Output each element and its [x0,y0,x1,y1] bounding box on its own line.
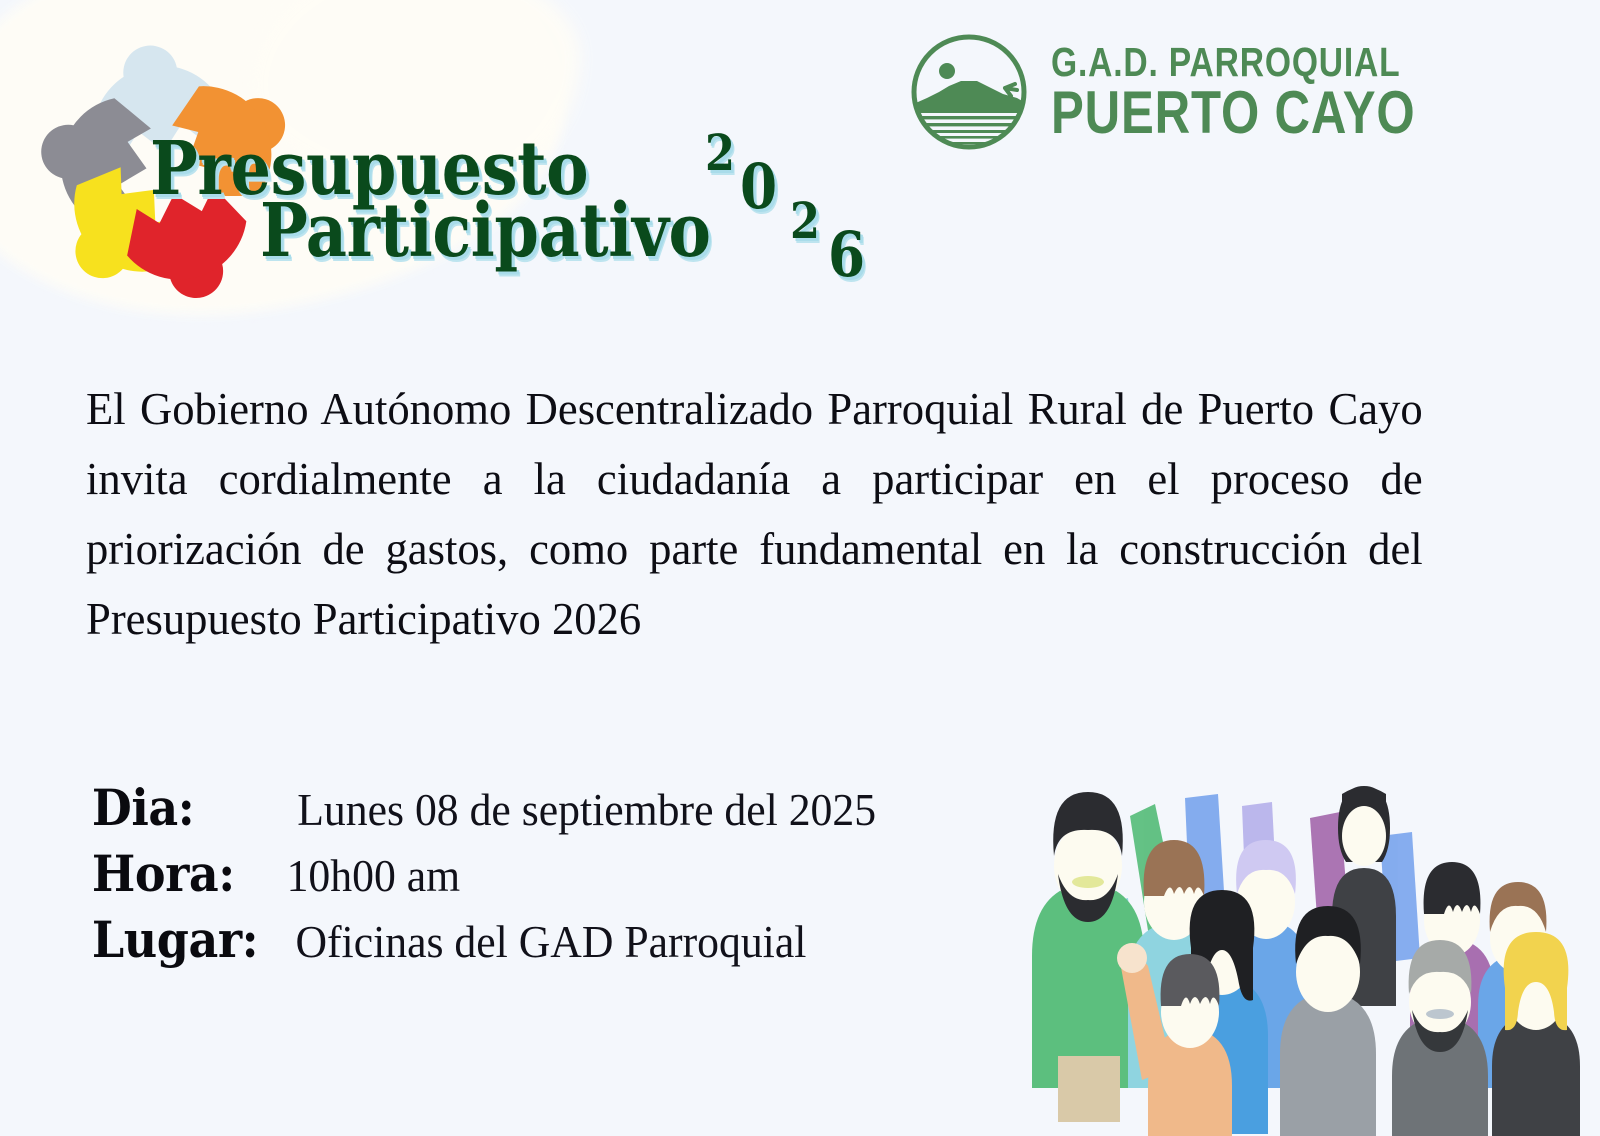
detail-value-hora: 10h00 am [287,849,461,902]
detail-value-dia: Lunes 08 de septiembre del 2025 [297,783,876,836]
detail-label-dia: Dia: [92,778,274,837]
detail-row-lugar: Lugar: Oficinas del GAD Parroquial [84,910,984,976]
detail-label-hora: Hora: [92,844,274,903]
title-line-2: Participativo [260,188,711,274]
crowd-of-people-illustration [980,706,1600,1136]
detail-label-lugar: Lugar: [92,910,274,969]
detail-row-hora: Hora: 10h00 am [84,844,984,910]
gad-logo-line-2: PUERTO CAYO [1051,85,1415,140]
year-digit-4: 6 [828,224,865,286]
detail-value-lugar: Oficinas del GAD Parroquial [295,915,806,968]
year-digit-3: 2 [790,196,820,246]
invitation-paragraph: El Gobierno Autónomo Descentralizado Par… [86,374,1423,654]
gad-emblem-icon [905,28,1033,156]
detail-row-dia: Dia: Lunes 08 de septiembre del 2025 [84,778,984,844]
poster-canvas: Presupuesto Participativo 2 0 2 6 [0,0,1600,1136]
gad-logo: G.A.D. PARROQUIAL PUERTO CAYO [905,28,1495,156]
year-digit-1: 2 [705,128,735,178]
gad-logo-text: G.A.D. PARROQUIAL PUERTO CAYO [1051,44,1495,141]
event-details: Dia: Lunes 08 de septiembre del 2025 Hor… [84,778,984,976]
year-digit-2: 0 [740,156,777,218]
gad-logo-line-1: G.A.D. PARROQUIAL [1051,44,1415,82]
page-title: Presupuesto Participativo 2 0 2 6 [150,126,970,301]
